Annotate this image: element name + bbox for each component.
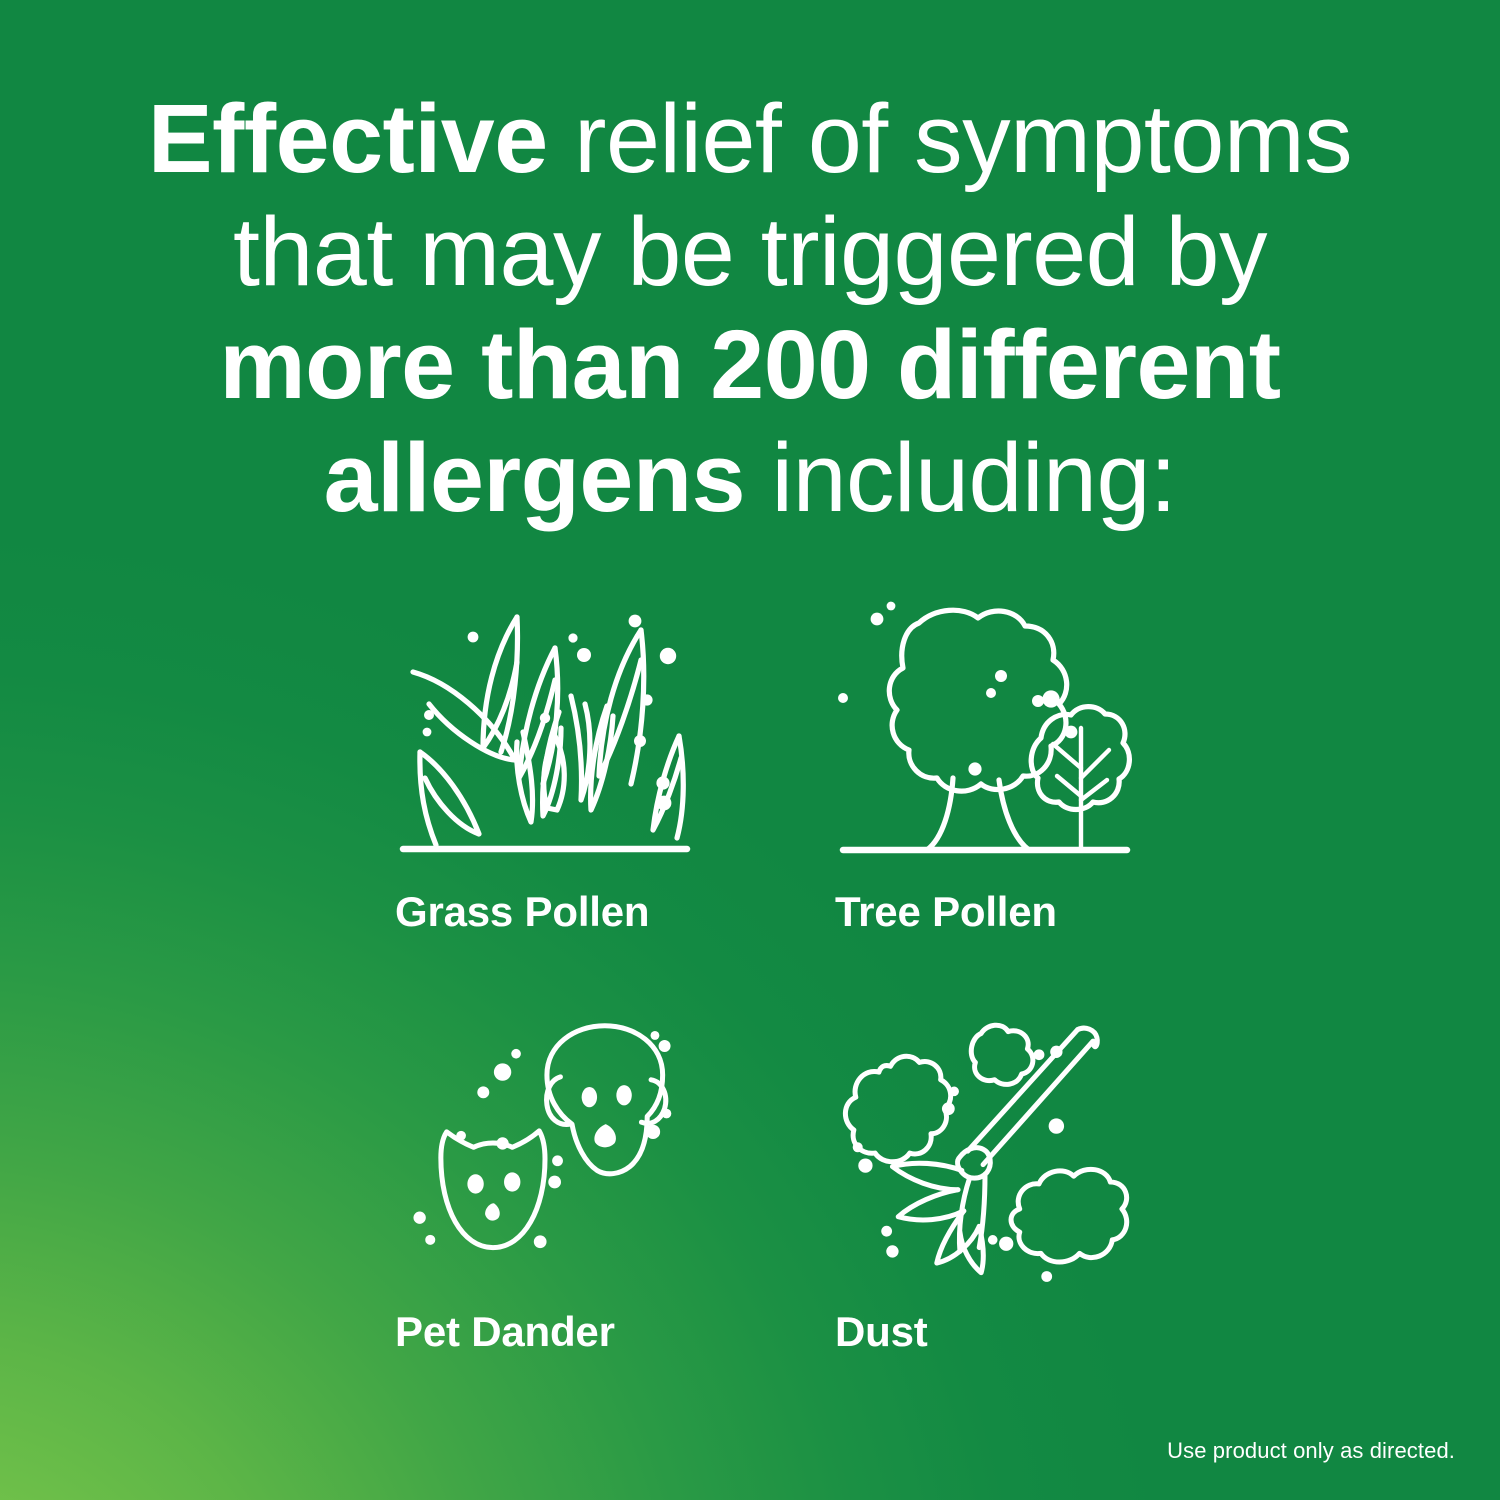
headline-line-4-rest: including: bbox=[745, 423, 1176, 532]
allergen-icon-grid: Grass Pollen bbox=[395, 600, 1155, 1400]
headline-line-1-rest: relief of symptoms bbox=[548, 84, 1352, 193]
headline-line-3: more than 200 different bbox=[0, 308, 1500, 421]
page-headline: Effective relief of symptoms that may be… bbox=[0, 82, 1500, 534]
allergen-info-panel: Effective relief of symptoms that may be… bbox=[0, 0, 1500, 1500]
headline-line-1-bold: Effective bbox=[148, 84, 548, 193]
grass-pollen-icon bbox=[395, 600, 695, 870]
allergen-label-dust: Dust bbox=[835, 1308, 1175, 1356]
allergen-item-grass-pollen: Grass Pollen bbox=[395, 600, 725, 980]
allergen-item-dust: Dust bbox=[835, 1020, 1165, 1400]
headline-line-2: that may be triggered by bbox=[0, 195, 1500, 308]
headline-line-4-bold: allergens bbox=[324, 423, 745, 532]
tree-pollen-icon bbox=[835, 600, 1135, 870]
disclaimer-text: Use product only as directed. bbox=[1167, 1437, 1455, 1465]
headline-line-4: allergens including: bbox=[0, 421, 1500, 534]
allergen-item-tree-pollen: Tree Pollen bbox=[835, 600, 1165, 980]
allergen-label-grass-pollen: Grass Pollen bbox=[395, 888, 735, 936]
allergen-label-tree-pollen: Tree Pollen bbox=[835, 888, 1175, 936]
dust-icon bbox=[835, 1020, 1135, 1290]
allergen-label-pet-dander: Pet Dander bbox=[395, 1308, 735, 1356]
headline-line-1: Effective relief of symptoms bbox=[0, 82, 1500, 195]
pet-dander-icon bbox=[395, 1020, 695, 1290]
allergen-item-pet-dander: Pet Dander bbox=[395, 1020, 725, 1400]
